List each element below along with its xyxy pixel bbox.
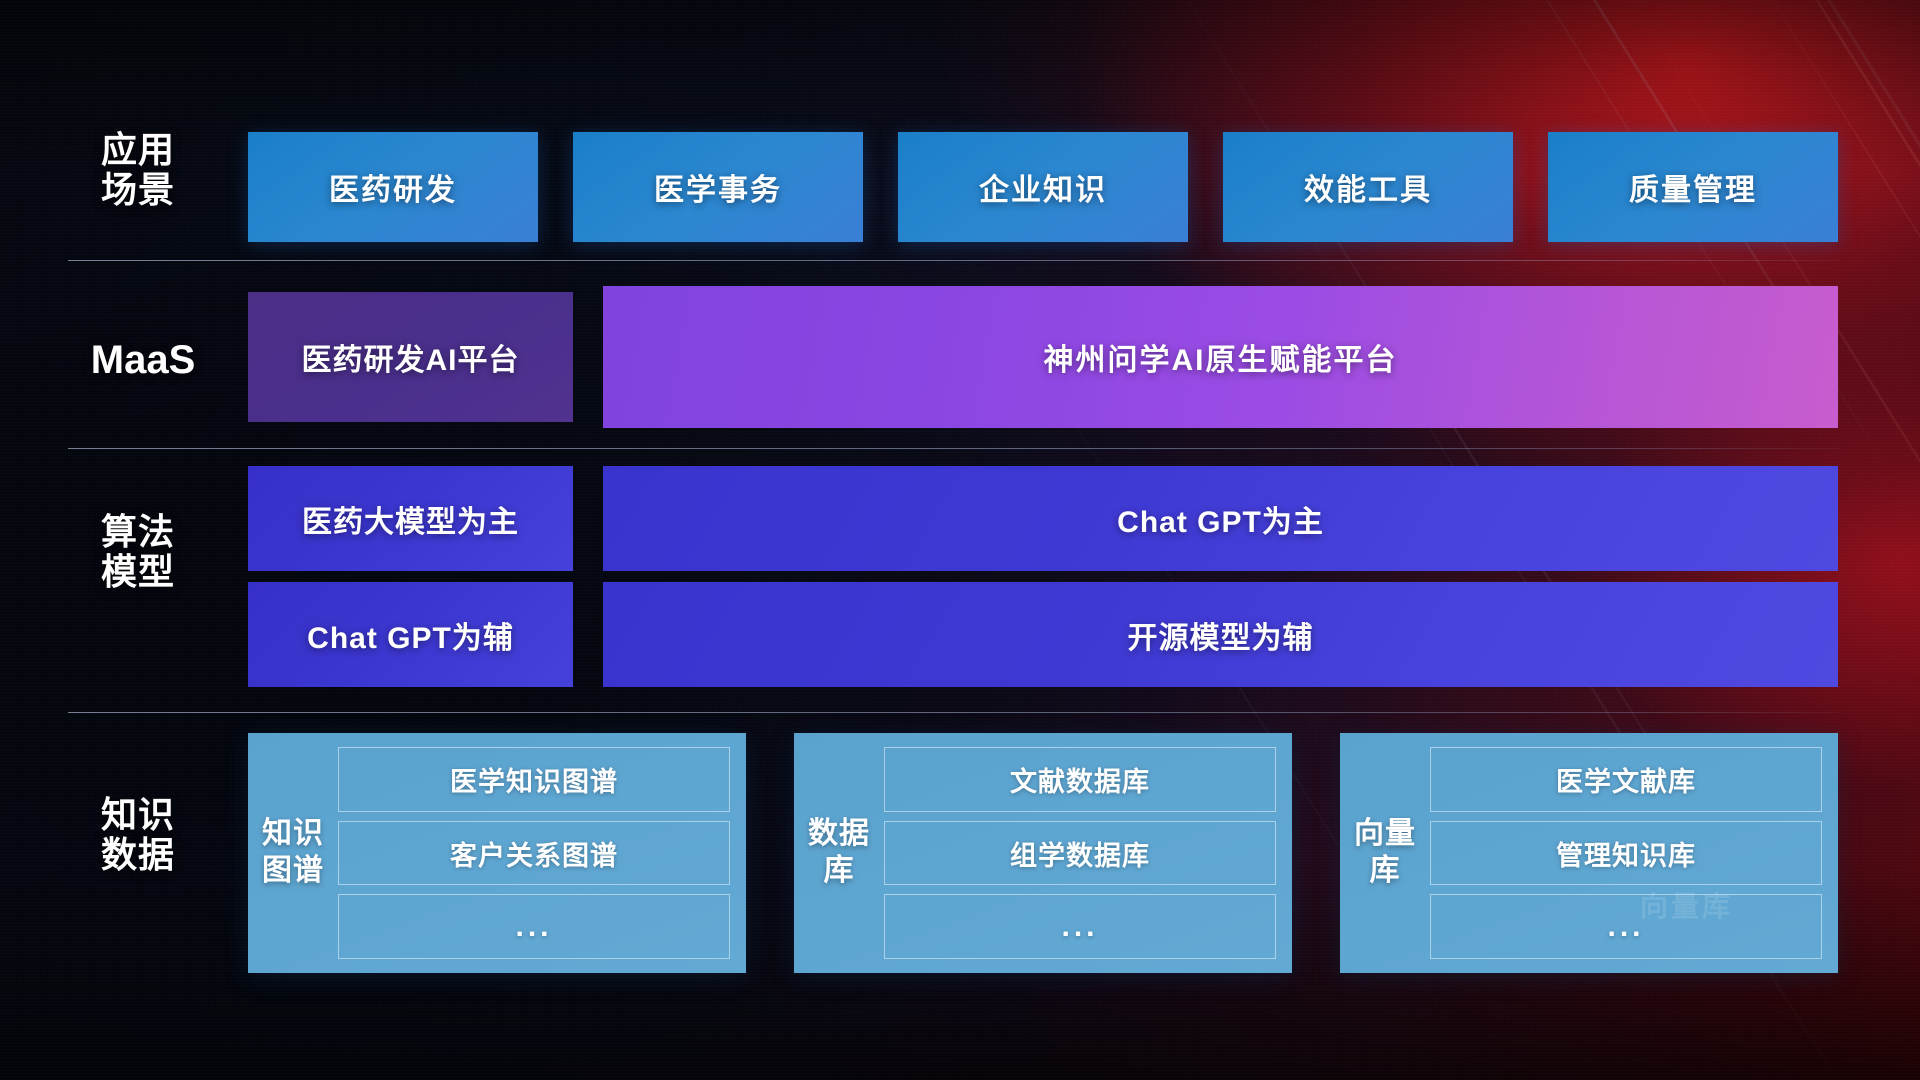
app-scenario-box-2[interactable]: 医学事务 [573,132,863,242]
algorithm-box-primary-right[interactable]: Chat GPT为主 [603,466,1838,571]
knowledge-item-1-3[interactable]: ... [338,894,730,959]
knowledge-item-1-2[interactable]: 客户关系图谱 [338,821,730,886]
knowledge-item-2-1[interactable]: 文献数据库 [884,747,1276,812]
app-scenario-label-5: 质量管理 [1629,165,1757,209]
algorithm-label-secondary-right: 开源模型为辅 [1128,613,1314,657]
row-label-knowledge: 知识 数据 [68,795,208,876]
app-scenario-box-3[interactable]: 企业知识 [898,132,1188,242]
row-label-maas: MaaS [68,338,218,383]
knowledge-item-3-3[interactable]: ... [1430,894,1822,959]
knowledge-item-2-2[interactable]: 组学数据库 [884,821,1276,886]
row-label-algorithm: 算法 模型 [68,512,208,593]
app-scenario-label-3: 企业知识 [979,165,1107,209]
app-scenario-label-1: 医药研发 [329,165,457,209]
algorithm-label-secondary-left: Chat GPT为辅 [307,613,514,657]
knowledge-panel-knowledge-graph[interactable]: 知识图谱 医学知识图谱 客户关系图谱 ... [248,733,746,973]
knowledge-panel-database[interactable]: 数据库 文献数据库 组学数据库 ... [794,733,1292,973]
app-scenario-label-2: 医学事务 [654,165,782,209]
maas-platform-label-right: 神州问学AI原生赋能平台 [1044,335,1398,379]
knowledge-panel-label-3: 向量库 [1354,747,1416,959]
knowledge-panel-items-3: 医学文献库 管理知识库 ... [1430,747,1822,959]
algorithm-box-primary-left[interactable]: 医药大模型为主 [248,466,573,571]
knowledge-panel-items-1: 医学知识图谱 客户关系图谱 ... [338,747,730,959]
maas-platform-box-left[interactable]: 医药研发AI平台 [248,292,573,422]
maas-platform-box-right[interactable]: 神州问学AI原生赋能平台 [603,286,1838,428]
knowledge-panel-label-1: 知识图谱 [262,747,324,959]
knowledge-panel-vector-store[interactable]: 向量库 医学文献库 管理知识库 ... [1340,733,1838,973]
algorithm-label-primary-right: Chat GPT为主 [1117,497,1324,541]
knowledge-item-1-1[interactable]: 医学知识图谱 [338,747,730,812]
row-label-application: 应用 场景 [68,130,208,211]
app-scenario-box-1[interactable]: 医药研发 [248,132,538,242]
knowledge-item-3-2[interactable]: 管理知识库 [1430,821,1822,886]
divider-algorithm-knowledge [68,712,1838,713]
maas-platform-label-left: 医药研发AI平台 [302,335,520,379]
knowledge-item-2-3[interactable]: ... [884,894,1276,959]
app-scenario-box-4[interactable]: 效能工具 [1223,132,1513,242]
knowledge-item-3-1[interactable]: 医学文献库 [1430,747,1822,812]
app-scenario-label-4: 效能工具 [1304,165,1432,209]
divider-maas-algorithm [68,448,1838,449]
knowledge-panel-label-2: 数据库 [808,747,870,959]
slide-canvas: 应用 场景 医药研发 医学事务 企业知识 效能工具 质量管理 MaaS 医药研发… [0,0,1920,1080]
algorithm-box-secondary-right[interactable]: 开源模型为辅 [603,582,1838,687]
algorithm-box-secondary-left[interactable]: Chat GPT为辅 [248,582,573,687]
divider-application-maas [68,260,1838,261]
app-scenario-box-5[interactable]: 质量管理 [1548,132,1838,242]
knowledge-panel-items-2: 文献数据库 组学数据库 ... [884,747,1276,959]
algorithm-label-primary-left: 医药大模型为主 [302,497,519,541]
